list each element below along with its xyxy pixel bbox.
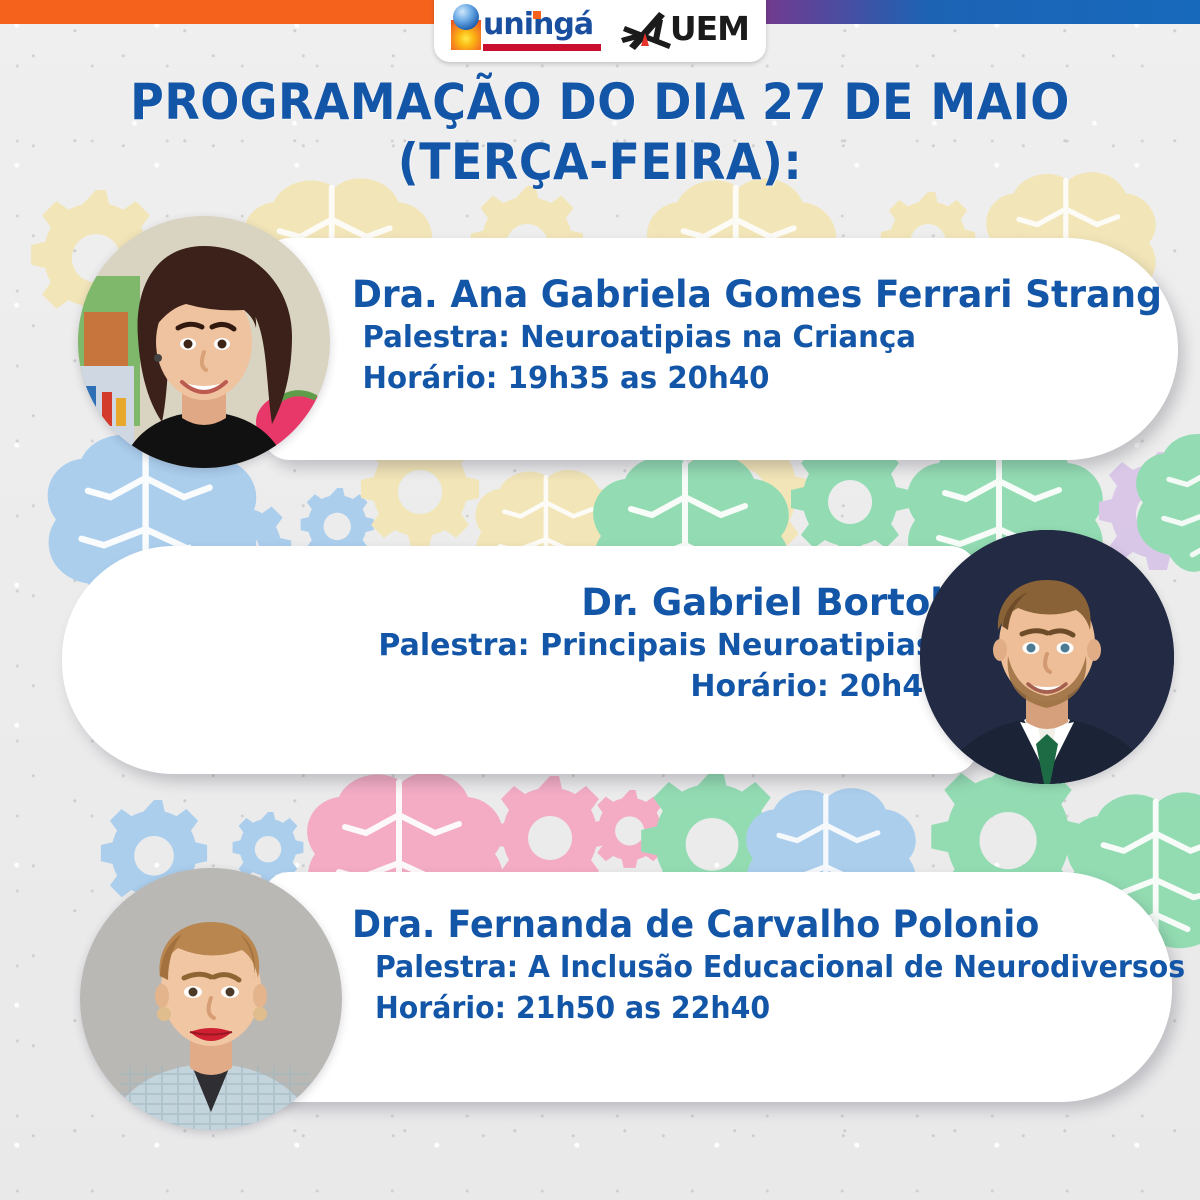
title-line-2: (TERÇA-FEIRA):	[48, 132, 1152, 192]
speaker-photo-1	[78, 216, 330, 468]
uem-logo: UEM	[619, 8, 749, 54]
logo-plate: uningá UEM	[434, 0, 766, 62]
speaker-talk-1: Palestra: Neuroatipias na Criança	[363, 317, 1173, 358]
speaker-time-3: Horário: 21h50 as 22h40	[375, 988, 1185, 1029]
speaker-info-1: Dra. Ana Gabriela Gomes Ferrari Strang P…	[352, 272, 1183, 399]
speaker-photo-2	[920, 530, 1174, 784]
poster-canvas: uningá UEM PROGRAMAÇÃO DO DIA 27 DE MAIO…	[0, 0, 1200, 1200]
speaker-name-3: Dra. Fernanda de Carvalho Polonio	[352, 902, 1162, 947]
title-line-1: PROGRAMAÇÃO DO DIA 27 DE MAIO	[48, 72, 1152, 132]
portrait-ana-gabriela-icon	[78, 216, 330, 468]
uninga-logo: uningá	[451, 6, 603, 54]
page-title: PROGRAMAÇÃO DO DIA 27 DE MAIO (TERÇA-FEI…	[0, 72, 1200, 192]
speaker-time-1: Horário: 19h35 as 20h40	[363, 358, 1173, 399]
portrait-gabriel-bortoli-icon	[920, 530, 1174, 784]
speaker-name-1: Dra. Ana Gabriela Gomes Ferrari Strang	[352, 272, 1162, 317]
uninga-accent-dot-icon	[533, 11, 541, 19]
uem-wordmark: UEM	[670, 12, 749, 46]
portrait-fernanda-polonio-icon	[80, 868, 342, 1130]
uninga-sphere-icon	[453, 4, 479, 30]
speaker-photo-3	[80, 868, 342, 1130]
speaker-info-3: Dra. Fernanda de Carvalho Polonio Palest…	[352, 902, 1200, 1029]
uninga-red-bar	[483, 44, 601, 51]
speaker-talk-3: Palestra: A Inclusão Educacional de Neur…	[375, 947, 1185, 988]
